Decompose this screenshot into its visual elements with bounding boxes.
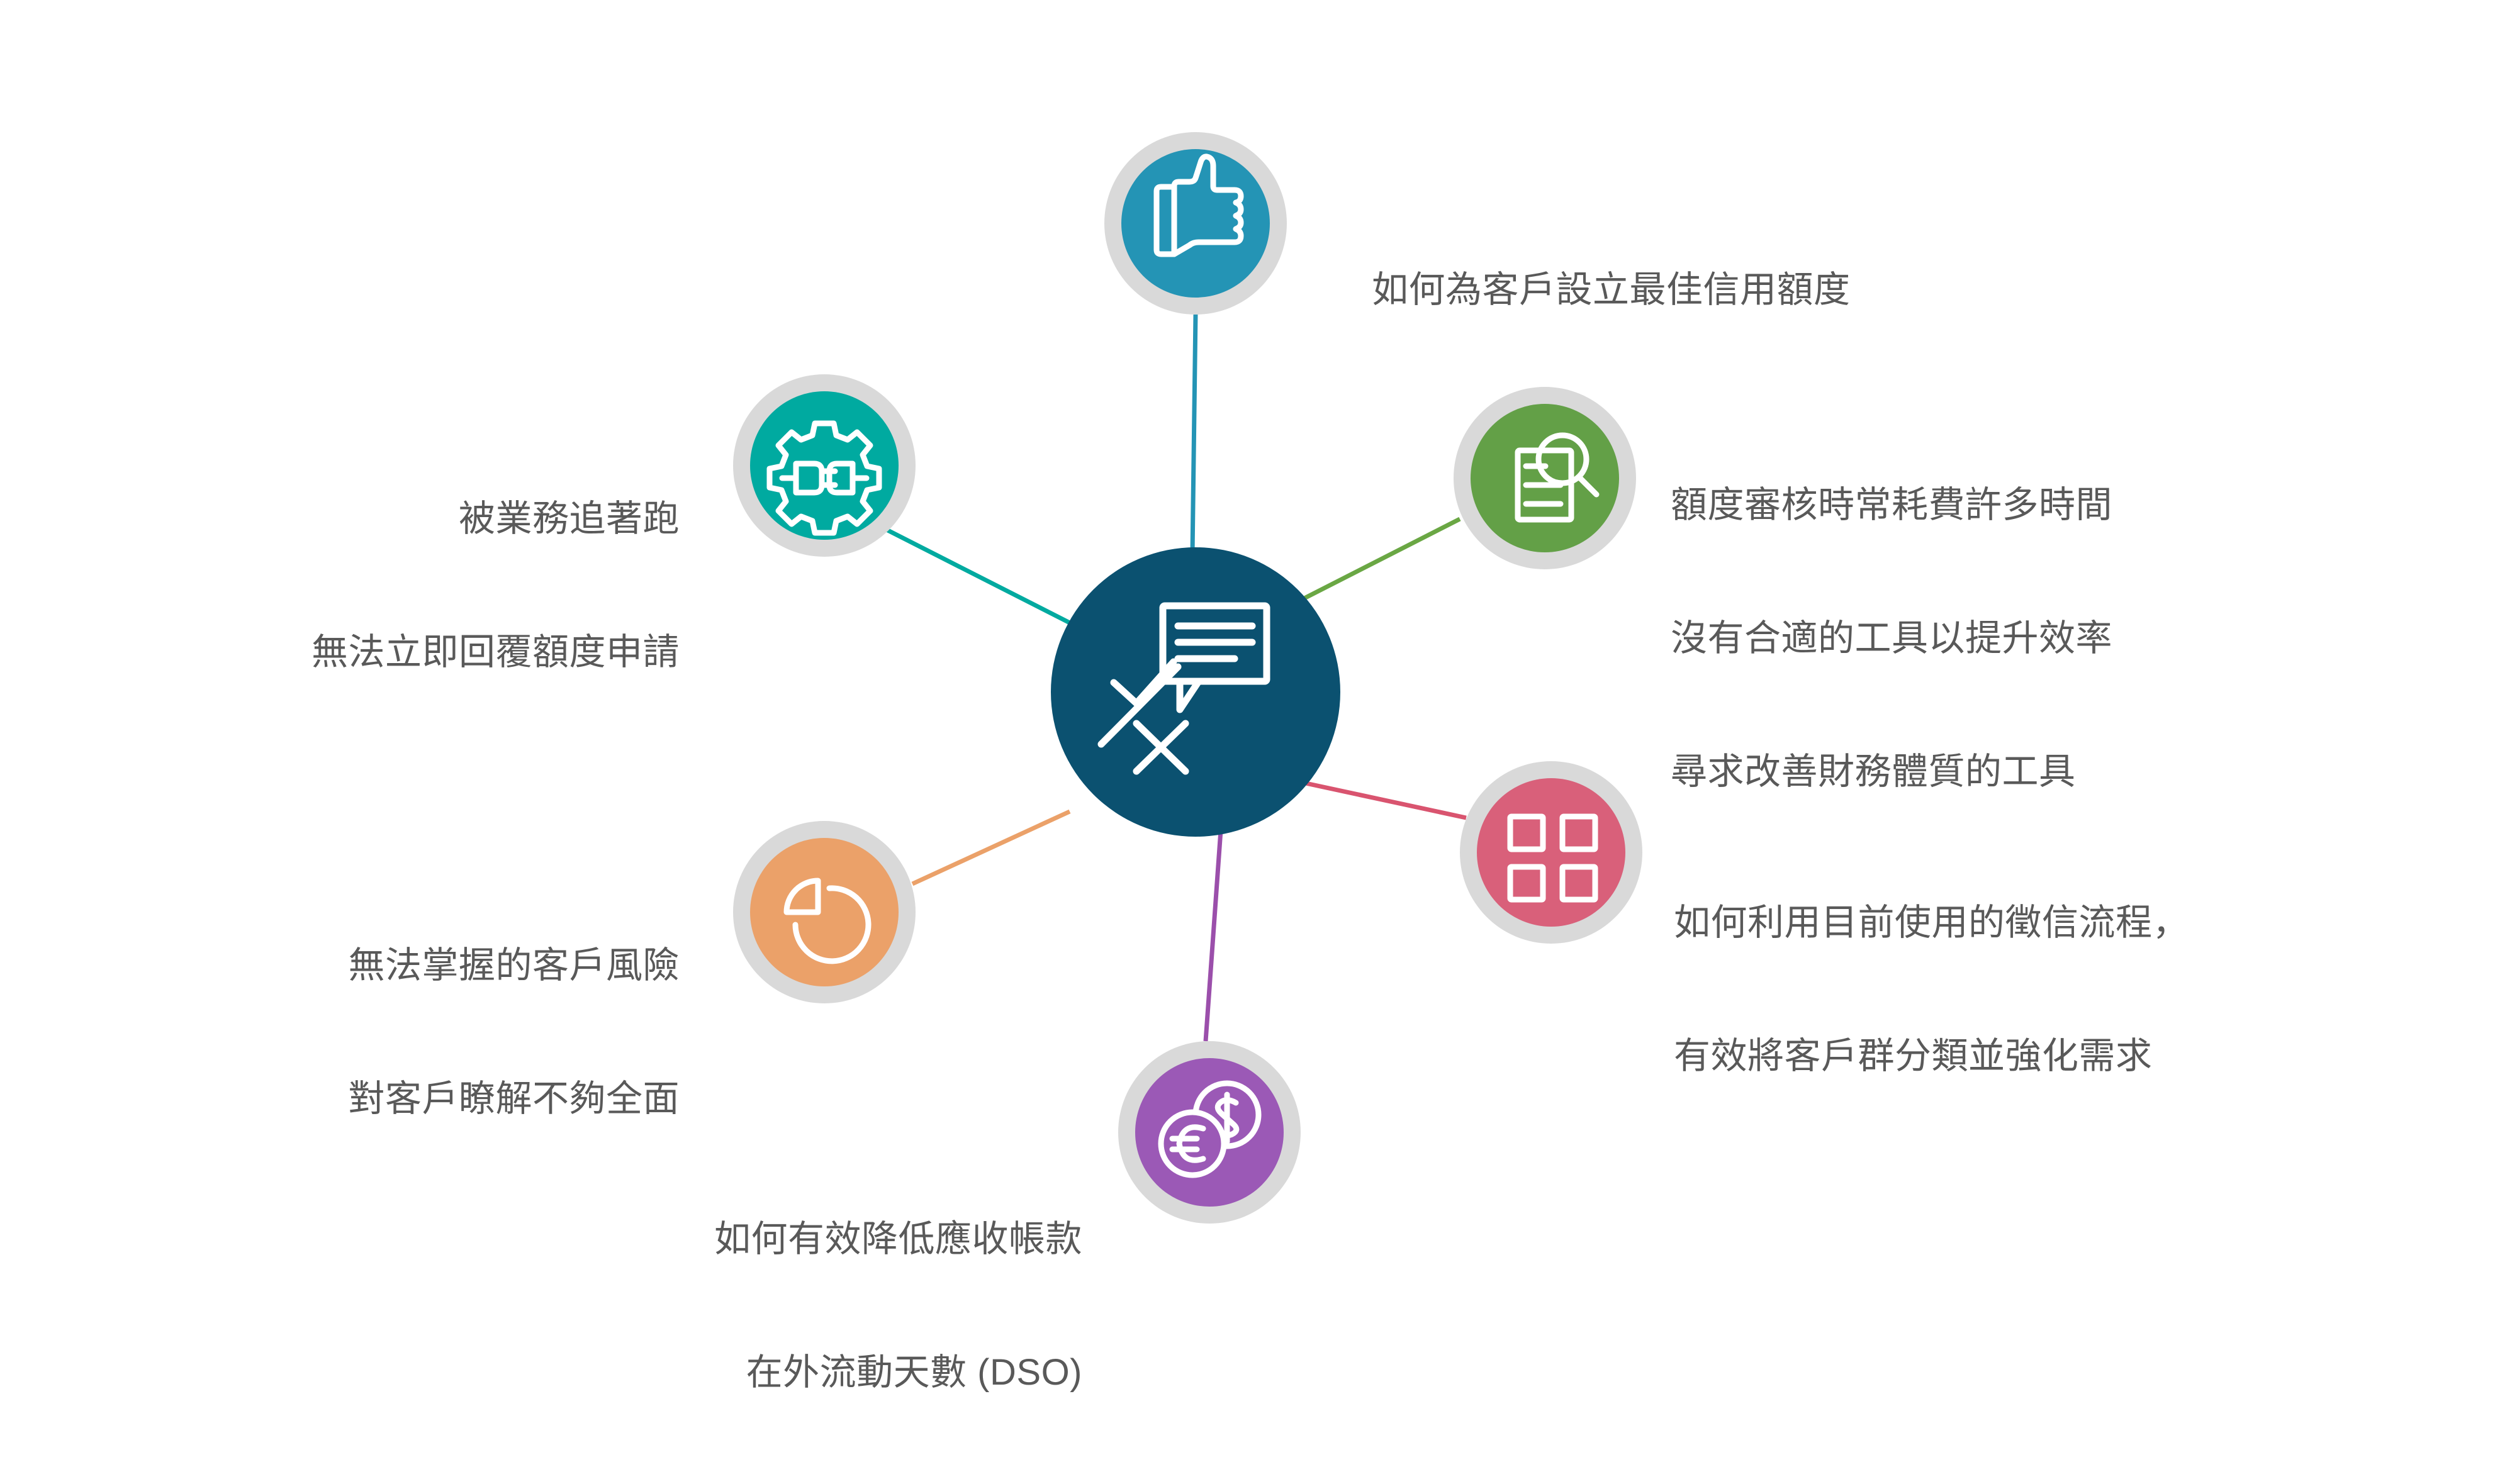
node-dso[interactable] <box>1118 1041 1301 1224</box>
hub-node[interactable] <box>1051 547 1340 837</box>
label-line: 在外流動天數 (DSO) <box>714 1351 1082 1395</box>
node-credit-review-time[interactable] <box>1454 387 1636 569</box>
label-line: 尋求改善財務體質的工具 <box>1671 750 2112 795</box>
label-line: 額度審核時常耗費許多時間 <box>1671 483 2112 528</box>
label-line: 無法立即回覆額度申請 <box>311 630 680 675</box>
connector-sales-pressure <box>884 528 1070 623</box>
connector-credit-review-time <box>1299 519 1460 601</box>
label-credit-review-time: 額度審核時常耗費許多時間 沒有合適的工具以提升效率 尋求改善財務體質的工具 <box>1671 394 2112 883</box>
label-line: 沒有合適的工具以提升效率 <box>1671 616 2112 661</box>
label-sales-pressure: 被業務追著跑 無法立即回覆額度申請 <box>311 408 680 764</box>
connector-credit-limit <box>1192 315 1196 554</box>
diagram-canvas: 如何為客戶設立最佳信用額度 額度審核時常耗費許多時間 沒有合適的工具以提升效率 … <box>0 0 2517 1415</box>
node-fill <box>1477 778 1625 927</box>
node-customer-risk[interactable] <box>733 821 916 1003</box>
label-line: 無法掌握的客戶風險 <box>348 944 680 988</box>
node-customer-segmentation[interactable] <box>1460 761 1642 944</box>
label-customer-segmentation: 如何利用目前使用的徵信流程， 有效將客戶群分類並強化需求 <box>1674 812 2189 1168</box>
label-line: 如何利用目前使用的徵信流程， <box>1674 901 2189 946</box>
connector-dso <box>1206 830 1221 1041</box>
connector-customer-risk <box>912 812 1070 884</box>
label-line: 被業務追著跑 <box>311 497 680 542</box>
connector-customer-segmentation <box>1306 783 1466 818</box>
label-line: 如何為客戶設立最佳信用額度 <box>1372 268 1851 313</box>
label-line: 如何有效降低應收帳款 <box>714 1217 1082 1262</box>
label-line: 有效將客戶群分類並強化需求 <box>1674 1034 2189 1079</box>
label-line: 對客戶瞭解不夠全面 <box>348 1077 680 1122</box>
node-sales-pressure[interactable] <box>733 374 916 557</box>
label-credit-limit: 如何為客戶設立最佳信用額度 <box>1372 179 1851 401</box>
label-customer-risk: 無法掌握的客戶風險 對客戶瞭解不夠全面 <box>348 854 680 1210</box>
label-dso: 如何有效降低應收帳款 在外流動天數 (DSO) <box>714 1128 1082 1484</box>
node-fill <box>750 838 899 986</box>
node-credit-limit[interactable] <box>1104 132 1287 315</box>
